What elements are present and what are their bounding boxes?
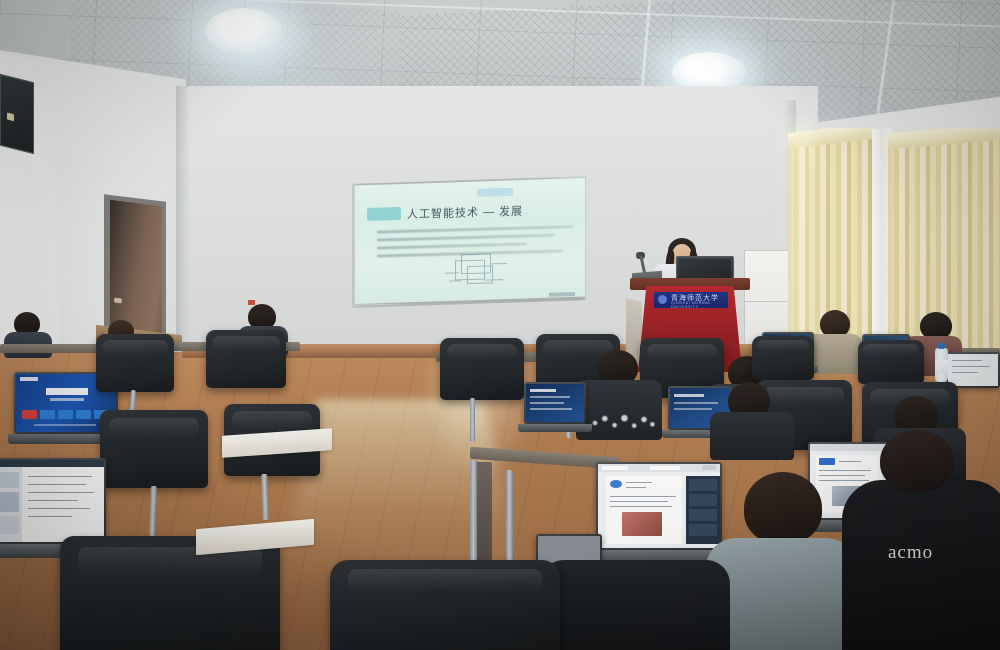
chair-back-left-2[interactable]	[206, 330, 286, 388]
chair-center-back-1[interactable]	[440, 338, 524, 400]
classroom-scene: 人工智能技术 — 发展	[0, 0, 1000, 650]
bottle-cap	[938, 343, 945, 349]
podium-nameplate-en: QINGHAI NORMAL UNIVERSITY	[671, 301, 728, 308]
bottle-label	[935, 360, 948, 374]
chair-right-back-1[interactable]	[752, 336, 814, 380]
pendant-light-1	[205, 8, 283, 54]
chair-front-left-large[interactable]	[60, 536, 280, 650]
chair-right-back-2[interactable]	[858, 340, 924, 384]
chair-back-left-1[interactable]	[96, 334, 174, 392]
screen-frame	[353, 176, 587, 306]
laptop-right-mid-screen	[948, 354, 998, 386]
laptop-center-mid-screen	[526, 384, 584, 422]
chair-leg-4	[470, 398, 475, 442]
laptop-front-left-screen	[0, 460, 104, 542]
university-logo-icon	[658, 295, 667, 304]
light-switch[interactable]	[248, 300, 255, 305]
door-handle-icon[interactable]	[114, 298, 122, 304]
laptop-center-front-screen	[598, 464, 720, 548]
hoodie-text: acmo	[888, 542, 933, 564]
chair-foreground-center[interactable]	[330, 560, 560, 650]
wall-speaker	[0, 74, 34, 154]
water-bottle[interactable]	[935, 348, 948, 382]
podium-nameplate: 青海师范大学 QINGHAI NORMAL UNIVERSITY	[654, 292, 728, 308]
chair-mid-left-1[interactable]	[100, 410, 208, 488]
jacket-graphic-print	[588, 412, 658, 434]
